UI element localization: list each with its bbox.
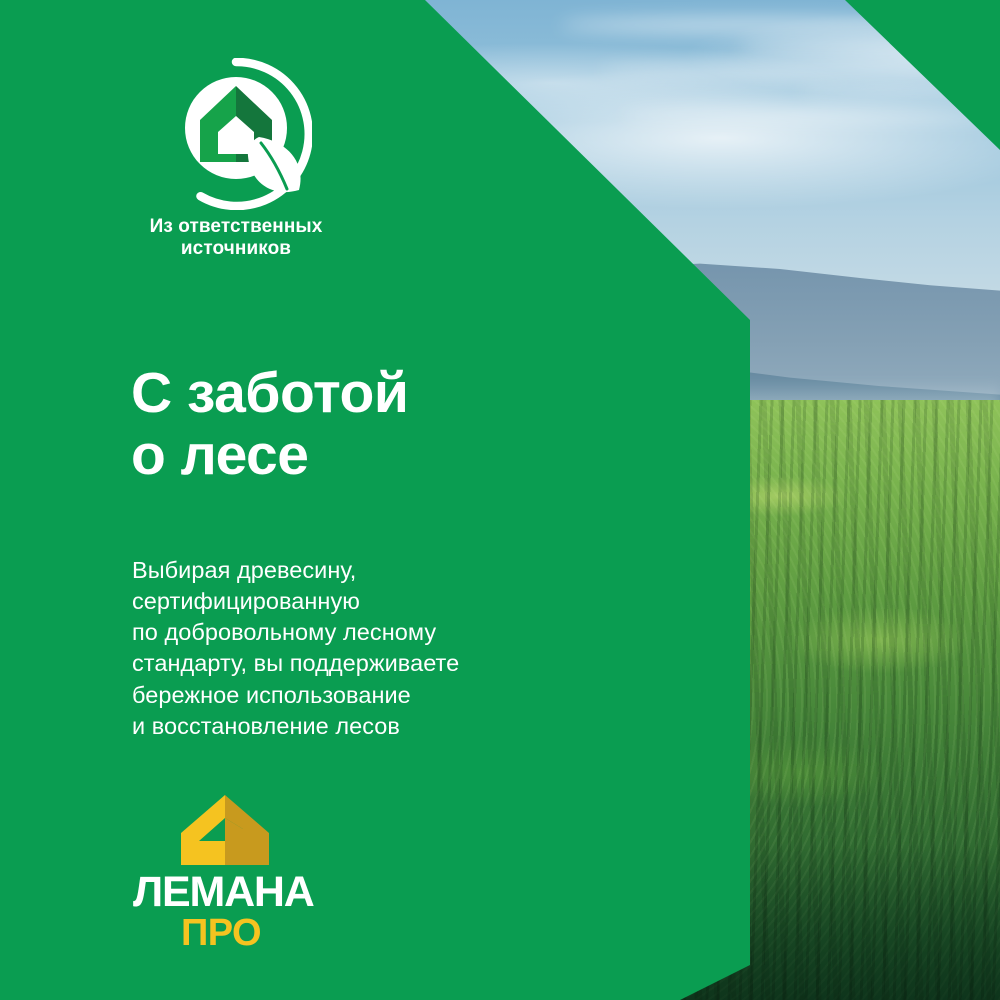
- content-layer: Из ответственных источников С заботой о …: [0, 0, 1000, 1000]
- brand-sub-text: ПРО: [133, 914, 313, 952]
- house-leaf-circle-emblem: [160, 58, 312, 210]
- brand-name-text: ЛЕМАНА: [133, 871, 313, 913]
- certification-badge-caption: Из ответственных источников: [130, 216, 342, 261]
- page-title: С заботой о лесе: [131, 363, 408, 486]
- poster-root: Из ответственных источников С заботой о …: [0, 0, 1000, 1000]
- body-paragraph: Выбирая древесину, сертифицированную по …: [132, 555, 459, 743]
- lemana-house-icon: [177, 793, 273, 867]
- certification-badge: Из ответственных источников: [130, 58, 342, 261]
- lemana-pro-logo: ЛЕМАНА ПРО: [133, 793, 313, 952]
